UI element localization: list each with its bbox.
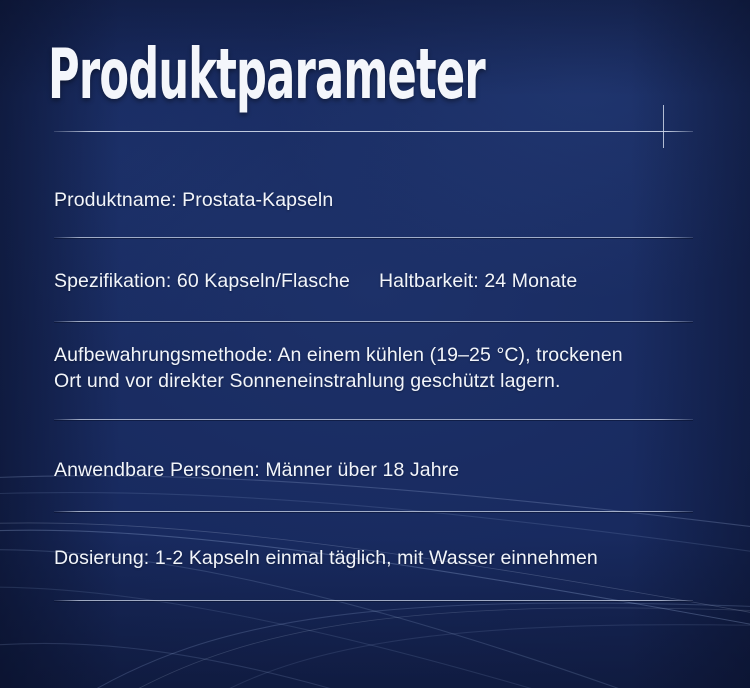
spec-row-anwendbare-personen: Anwendbare Personen: Männer über 18 Jahr… bbox=[54, 420, 693, 512]
row-divider bbox=[54, 600, 693, 601]
spec-segment-haltbarkeit: Haltbarkeit: 24 Monate bbox=[379, 268, 577, 295]
title-rule-tick bbox=[663, 105, 664, 148]
spec-row-text: Dosierung: 1-2 Kapseln einmal täglich, m… bbox=[54, 512, 693, 600]
spec-row-produktname: Produktname: Prostata-Kapseln bbox=[54, 168, 693, 238]
spec-row-aufbewahrungsmethode: Aufbewahrungsmethode: An einem kühlen (1… bbox=[54, 322, 693, 420]
spec-list: Produktname: Prostata-Kapseln Spezifikat… bbox=[54, 168, 693, 601]
product-parameters-poster: Produktparameter Produktname: Prostata-K… bbox=[0, 0, 750, 688]
spec-row-text: Produktname: Prostata-Kapseln bbox=[54, 168, 693, 237]
spec-row-text: Anwendbare Personen: Männer über 18 Jahr… bbox=[54, 420, 693, 511]
spec-row-text: Aufbewahrungsmethode: An einem kühlen (1… bbox=[54, 322, 693, 419]
spec-row-text: Spezifikation: 60 Kapseln/Flasche Haltba… bbox=[54, 238, 693, 321]
spec-segment-spezifikation: Spezifikation: 60 Kapseln/Flasche bbox=[54, 268, 350, 295]
title-underline-rule bbox=[54, 131, 693, 132]
page-title: Produktparameter bbox=[48, 40, 485, 110]
spec-row-dosierung: Dosierung: 1-2 Kapseln einmal täglich, m… bbox=[54, 512, 693, 601]
spec-row-spezifikation-haltbarkeit: Spezifikation: 60 Kapseln/Flasche Haltba… bbox=[54, 238, 693, 322]
